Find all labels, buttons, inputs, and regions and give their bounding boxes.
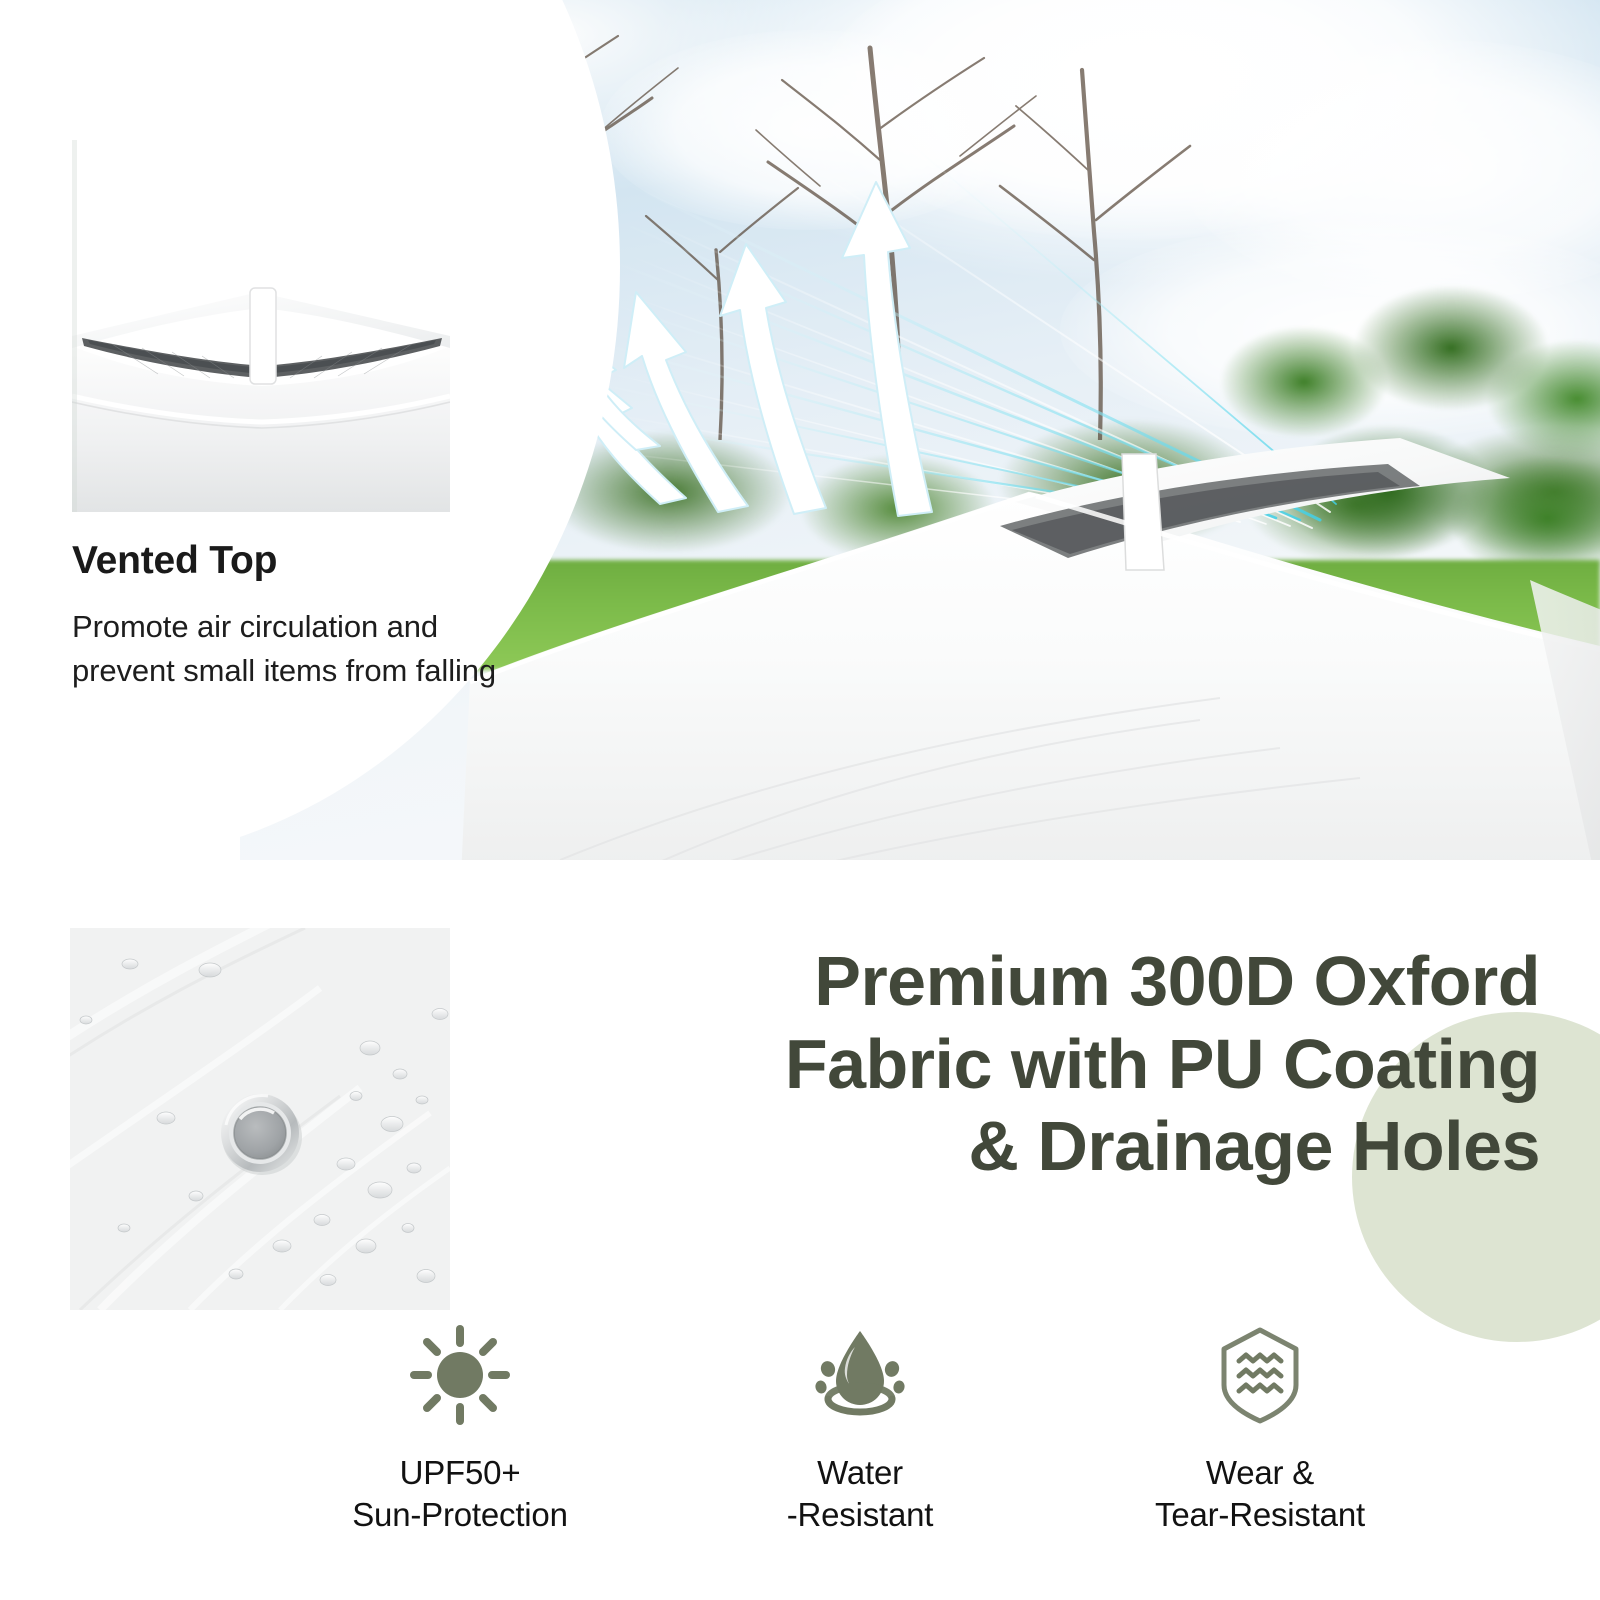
headline-line-1: Premium 300D Oxford xyxy=(520,940,1540,1023)
vented-top-title: Vented Top xyxy=(72,540,542,583)
headline-line-2: Fabric with PU Coating xyxy=(520,1023,1540,1106)
vented-top-text-block: Vented Top Promote air circulation and p… xyxy=(72,540,542,693)
feature-label-wear-tear: Wear & Tear-Resistant xyxy=(1060,1452,1460,1536)
feature-water-resistant: Water -Resistant xyxy=(660,1320,1060,1536)
vented-top-closeup-photo xyxy=(72,140,450,512)
feature-label-water: Water -Resistant xyxy=(660,1452,1060,1536)
feature-label-upf: UPF50+ Sun-Protection xyxy=(260,1452,660,1536)
feature-upf-sun-protection: UPF50+ Sun-Protection xyxy=(260,1320,660,1536)
fabric-headline: Premium 300D Oxford Fabric with PU Coati… xyxy=(520,940,1540,1188)
sun-icon xyxy=(260,1320,660,1430)
headline-line-3: & Drainage Holes xyxy=(520,1105,1540,1188)
feature-label-line-1: UPF50+ xyxy=(260,1452,660,1494)
feature-label-line-1: Water xyxy=(660,1452,1060,1494)
vented-top-description: Promote air circulation and prevent smal… xyxy=(72,605,542,693)
shield-waves-icon xyxy=(1060,1320,1460,1430)
feature-label-line-2: -Resistant xyxy=(660,1494,1060,1536)
feature-row: UPF50+ Sun-Protection W xyxy=(260,1320,1460,1536)
water-drop-icon xyxy=(660,1320,1060,1430)
canopy-roof xyxy=(440,430,1600,860)
feature-wear-tear-resistant: Wear & Tear-Resistant xyxy=(1060,1320,1460,1536)
fabric-drainage-grommet-photo xyxy=(70,928,450,1310)
feature-label-line-2: Sun-Protection xyxy=(260,1494,660,1536)
feature-label-line-1: Wear & xyxy=(1060,1452,1460,1494)
feature-label-line-2: Tear-Resistant xyxy=(1060,1494,1460,1536)
